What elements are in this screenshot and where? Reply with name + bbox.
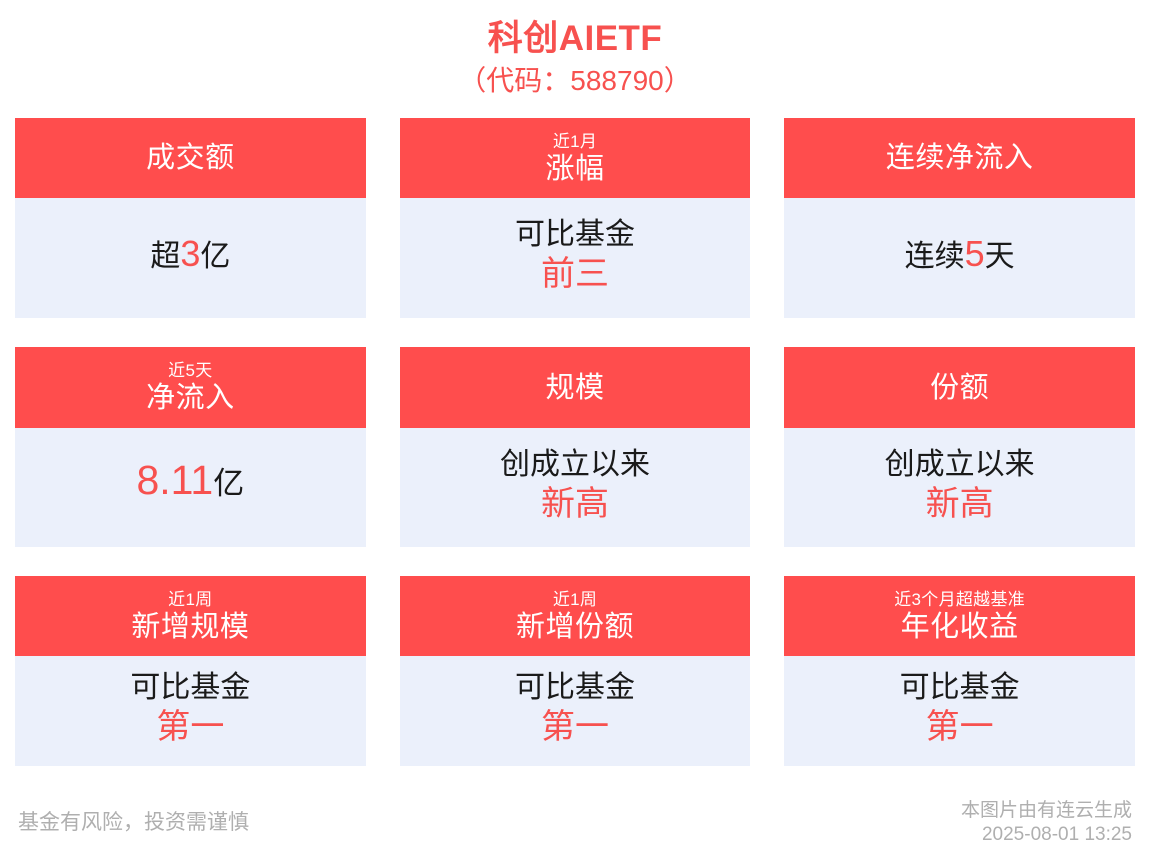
value-number: 8.11 [136, 457, 213, 503]
card-eyebrow: 近1周 [168, 589, 212, 610]
value-highlight: 3 [180, 233, 200, 274]
card-value: 超3亿 [150, 234, 230, 277]
card-title: 净流入 [146, 381, 235, 415]
card-eyebrow: 近5天 [168, 360, 212, 381]
metric-card-turnover[interactable]: 成交额 超3亿 [15, 118, 366, 318]
card-title: 新增规模 [131, 610, 249, 644]
value-prefix: 连续 [905, 240, 965, 273]
generation-timestamp: 2025-08-01 13:25 [961, 823, 1132, 847]
card-value-top: 创成立以来 [885, 446, 1035, 484]
metric-card-net-inflow[interactable]: 近5天 净流入 8.11亿 [15, 347, 366, 547]
fund-code: （代码：588790） [0, 63, 1150, 99]
card-body: 可比基金 第一 [784, 656, 1135, 766]
card-body: 创成立以来 新高 [400, 428, 751, 547]
card-header: 近3个月超越基准 年化收益 [784, 576, 1135, 656]
card-title: 连续净流入 [886, 140, 1034, 176]
card-value-accent: 第一 [156, 707, 224, 747]
metric-card-shares[interactable]: 份额 创成立以来 新高 [784, 347, 1135, 547]
generation-info: 本图片由有连云生成 2025-08-01 13:25 [961, 799, 1132, 847]
value-suffix: 亿 [200, 240, 230, 273]
card-header: 近1月 涨幅 [400, 118, 751, 198]
card-body: 可比基金 前三 [400, 198, 751, 318]
poster-page: 科创AIETF （代码：588790） 成交额 超3亿 近1月 涨幅 可比基金 … [0, 0, 1150, 860]
title-block: 科创AIETF （代码：588790） [0, 0, 1150, 99]
card-eyebrow: 近1月 [553, 131, 597, 152]
metric-card-new-shares[interactable]: 近1周 新增份额 可比基金 第一 [400, 576, 751, 766]
card-body: 创成立以来 新高 [784, 428, 1135, 547]
card-eyebrow: 近3个月超越基准 [894, 589, 1025, 610]
page-title: 科创AIETF [0, 18, 1150, 60]
footer: 基金有风险，投资需谨慎 本图片由有连云生成 2025-08-01 13:25 [0, 785, 1150, 860]
card-header: 近1周 新增规模 [15, 576, 366, 656]
value-prefix: 超 [150, 240, 180, 273]
metric-card-continuous-inflow[interactable]: 连续净流入 连续5天 [784, 118, 1135, 318]
metric-card-grid: 成交额 超3亿 近1月 涨幅 可比基金 前三 连续净流入 连续5天 [0, 118, 1150, 766]
card-header: 连续净流入 [784, 118, 1135, 198]
card-value-accent: 第一 [541, 707, 609, 747]
card-body: 超3亿 [15, 198, 366, 318]
card-title: 新增份额 [516, 610, 634, 644]
card-value-top: 可比基金 [515, 216, 635, 254]
card-title: 份额 [930, 370, 989, 406]
card-value: 8.11亿 [136, 457, 244, 513]
card-header: 规模 [400, 347, 751, 428]
card-title: 规模 [545, 370, 604, 406]
card-header: 近1周 新增份额 [400, 576, 751, 656]
card-eyebrow: 近1周 [553, 589, 597, 610]
card-value-top: 可比基金 [900, 669, 1020, 707]
card-header: 成交额 [15, 118, 366, 198]
card-title: 成交额 [146, 140, 235, 176]
card-body: 可比基金 第一 [400, 656, 751, 766]
value-highlight: 5 [965, 233, 985, 274]
card-header: 近5天 净流入 [15, 347, 366, 428]
value-suffix: 天 [985, 240, 1015, 273]
generation-source: 本图片由有连云生成 [961, 799, 1132, 823]
card-body: 8.11亿 [15, 428, 366, 547]
card-title: 年化收益 [901, 610, 1019, 644]
risk-disclaimer: 基金有风险，投资需谨慎 [18, 810, 249, 836]
card-body: 连续5天 [784, 198, 1135, 318]
card-title: 涨幅 [545, 152, 604, 186]
card-body: 可比基金 第一 [15, 656, 366, 766]
metric-card-annualized-excess-return[interactable]: 近3个月超越基准 年化收益 可比基金 第一 [784, 576, 1135, 766]
metric-card-scale[interactable]: 规模 创成立以来 新高 [400, 347, 751, 547]
card-value-accent: 前三 [541, 254, 609, 294]
card-value-accent: 第一 [926, 707, 994, 747]
card-value-accent: 新高 [541, 484, 609, 524]
card-value: 连续5天 [905, 234, 1015, 277]
metric-card-monthly-gain[interactable]: 近1月 涨幅 可比基金 前三 [400, 118, 751, 318]
metric-card-new-scale[interactable]: 近1周 新增规模 可比基金 第一 [15, 576, 366, 766]
card-value-top: 可比基金 [515, 669, 635, 707]
card-value-accent: 新高 [926, 484, 994, 524]
value-unit: 亿 [213, 466, 244, 501]
card-header: 份额 [784, 347, 1135, 428]
card-value-top: 可比基金 [130, 669, 250, 707]
card-value-top: 创成立以来 [500, 446, 650, 484]
